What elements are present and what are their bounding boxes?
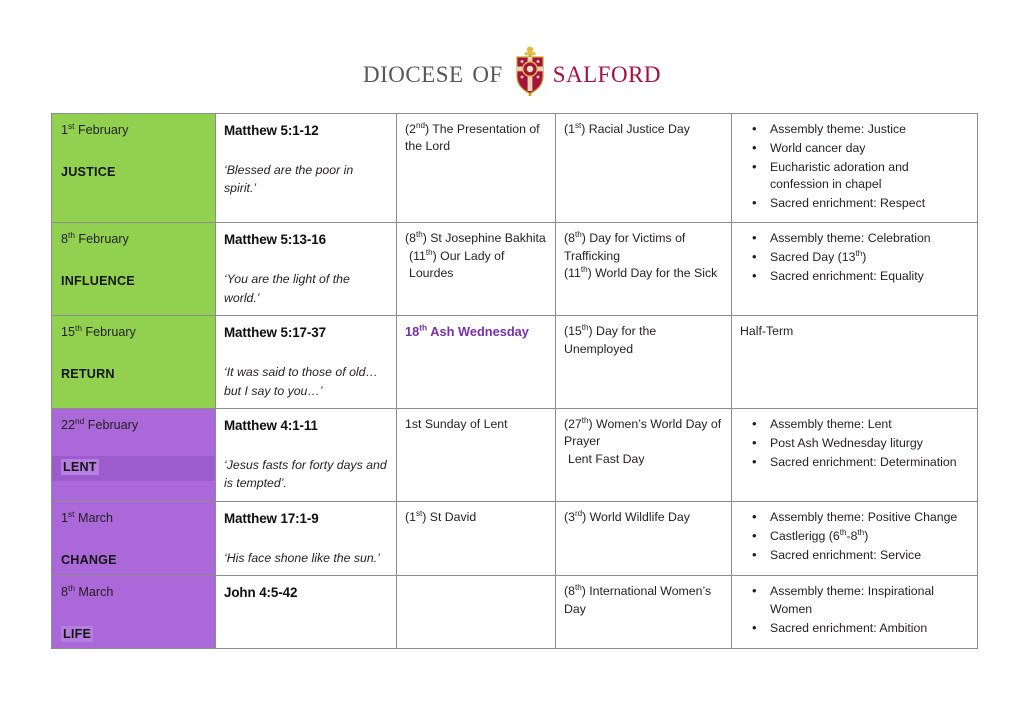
list-item: Sacred enrichment: Determination [770,454,969,472]
feast-entry: (1st) St David [405,509,547,526]
theme-keyword: JUSTICE [52,161,215,186]
list-item: Assembly theme: Celebration [770,230,969,248]
table-row: 1st FebruaryJUSTICEMatthew 5:1-12‘Blesse… [52,114,978,223]
logo-text-salford: Salford [547,56,661,89]
theme-cell: 15th FebruaryRETURN [52,316,216,409]
plain-note: Half-Term [740,323,969,340]
list-item: Post Ash Wednesday liturgy [770,435,969,453]
gospel-cell: Matthew 17:1-9‘His face shone like the s… [216,501,397,575]
gospel-quote: ‘You are the light of the world.’ [224,270,388,307]
gospel-quote: ‘His face shone like the sun.’ [224,549,388,567]
notes-cell: Assembly theme: JusticeWorld cancer dayE… [732,114,978,223]
special-day-cell: (27th) Women’s World Day of PrayerLent F… [556,408,732,501]
feast-entry: (2nd) The Presentation of the Lord [405,121,547,156]
table-row: 15th FebruaryRETURNMatthew 5:17-37‘It wa… [52,316,978,409]
special-day-entry: Lent Fast Day [564,451,723,468]
gospel-cell: Matthew 5:1-12‘Blessed are the poor in s… [216,114,397,223]
gospel-reference: Matthew 5:1-12 [224,121,388,140]
special-day-cell: (8th) Day for Victims of Trafficking(11t… [556,223,732,316]
gospel-quote: ‘Blessed are the poor in spirit.’ [224,161,388,198]
list-item: Assembly theme: Lent [770,416,969,434]
special-day-entry: (1st) Racial Justice Day [564,121,723,138]
special-day-entry: (3rd) World Wildlife Day [564,509,723,526]
list-item: Sacred enrichment: Equality [770,268,969,286]
gospel-reference: Matthew 5:17-37 [224,323,388,342]
notes-cell: Assembly theme: LentPost Ash Wednesday l… [732,408,978,501]
list-item: Assembly theme: Justice [770,121,969,139]
notes-cell: Assembly theme: CelebrationSacred Day (1… [732,223,978,316]
list-item: Sacred enrichment: Service [770,547,969,565]
table-row: 1st MarchCHANGEMatthew 17:1-9‘His face s… [52,501,978,575]
week-date: 1st March [52,502,215,528]
notes-cell: Assembly theme: Inspirational WomenSacre… [732,576,978,649]
list-item: Castlerigg (6th-8th) [770,528,969,546]
list-item: Sacred Day (13th) [770,249,969,267]
special-day-entry: (8th) Day for Victims of Trafficking [564,230,723,265]
special-day-entry: (27th) Women’s World Day of Prayer [564,416,723,451]
gospel-reference: John 4:5-42 [224,583,388,602]
theme-keyword: LENT [52,456,215,481]
notes-list: Assembly theme: CelebrationSacred Day (1… [740,230,969,285]
notes-list: Assembly theme: LentPost Ash Wednesday l… [740,416,969,471]
notes-list: Assembly theme: JusticeWorld cancer dayE… [740,121,969,213]
logo-text-diocese-of: Diocese of [363,56,513,89]
theme-keyword: RETURN [52,363,215,388]
liturgical-schedule-table: 1st FebruaryJUSTICEMatthew 5:1-12‘Blesse… [51,113,978,649]
feast-cell [397,576,556,649]
feast-cell: 18th Ash Wednesday [397,316,556,409]
gospel-quote: ‘It was said to those of old… but I say … [224,363,388,400]
notes-list: Assembly theme: Positive ChangeCastlerig… [740,509,969,564]
masthead: Diocese of [0,44,1024,100]
feast-entry: 1st Sunday of Lent [405,416,547,433]
notes-cell: Half-Term [732,316,978,409]
list-item: Sacred enrichment: Ambition [770,620,969,638]
notes-cell: Assembly theme: Positive ChangeCastlerig… [732,501,978,575]
feast-entry: (11th) Our Lady of Lourdes [405,248,547,283]
special-day-cell: (3rd) World Wildlife Day [556,501,732,575]
list-item: Assembly theme: Inspirational Women [770,583,969,619]
diocese-logo: Diocese of [363,46,661,98]
gospel-cell: Matthew 5:13-16‘You are the light of the… [216,223,397,316]
theme-cell: 8th FebruaryINFLUENCE [52,223,216,316]
special-day-cell: (15th) Day for the Unemployed [556,316,732,409]
table-row: 22nd FebruaryLENTMatthew 4:1-11‘Jesus fa… [52,408,978,501]
gospel-quote: ‘Jesus fasts for forty days and is tempt… [224,456,388,493]
special-day-cell: (1st) Racial Justice Day [556,114,732,223]
week-date: 22nd February [52,409,215,435]
notes-list: Assembly theme: Inspirational WomenSacre… [740,583,969,637]
week-date: 15th February [52,316,215,342]
gospel-cell: John 4:5-42 [216,576,397,649]
theme-cell: 1st MarchCHANGE [52,501,216,575]
week-date: 8th March [52,576,215,602]
feast-entry: (8th) St Josephine Bakhita [405,230,547,247]
feast-cell: (8th) St Josephine Bakhita(11th) Our Lad… [397,223,556,316]
special-day-entry: (11th) World Day for the Sick [564,265,723,282]
gospel-reference: Matthew 5:13-16 [224,230,388,249]
special-day-entry: (15th) Day for the Unemployed [564,323,723,358]
table-row: 8th FebruaryINFLUENCEMatthew 5:13-16‘You… [52,223,978,316]
gospel-cell: Matthew 4:1-11‘Jesus fasts for forty day… [216,408,397,501]
list-item: Sacred enrichment: Respect [770,195,969,213]
theme-keyword: CHANGE [52,549,215,574]
gospel-reference: Matthew 4:1-11 [224,416,388,435]
feast-cell: (2nd) The Presentation of the Lord [397,114,556,223]
week-date: 8th February [52,223,215,249]
theme-cell: 8th MarchLIFE [52,576,216,649]
theme-cell: 22nd FebruaryLENT [52,408,216,501]
diocese-crest-icon [513,46,547,98]
list-item: Eucharistic adoration and confession in … [770,159,969,195]
gospel-cell: Matthew 5:17-37‘It was said to those of … [216,316,397,409]
theme-keyword: INFLUENCE [52,270,215,295]
feast-entry: 18th Ash Wednesday [405,323,547,341]
theme-keyword: LIFE [52,623,215,648]
schedule-table-body: 1st FebruaryJUSTICEMatthew 5:1-12‘Blesse… [52,114,978,649]
special-day-cell: (8th) International Women’s Day [556,576,732,649]
list-item: Assembly theme: Positive Change [770,509,969,527]
feast-cell: (1st) St David [397,501,556,575]
special-day-entry: (8th) International Women’s Day [564,583,723,618]
gospel-reference: Matthew 17:1-9 [224,509,388,528]
list-item: World cancer day [770,140,969,158]
feast-cell: 1st Sunday of Lent [397,408,556,501]
week-date: 1st February [52,114,215,140]
theme-cell: 1st FebruaryJUSTICE [52,114,216,223]
document-page: Diocese of [0,0,1024,724]
table-row: 8th MarchLIFEJohn 4:5-42(8th) Internatio… [52,576,978,649]
